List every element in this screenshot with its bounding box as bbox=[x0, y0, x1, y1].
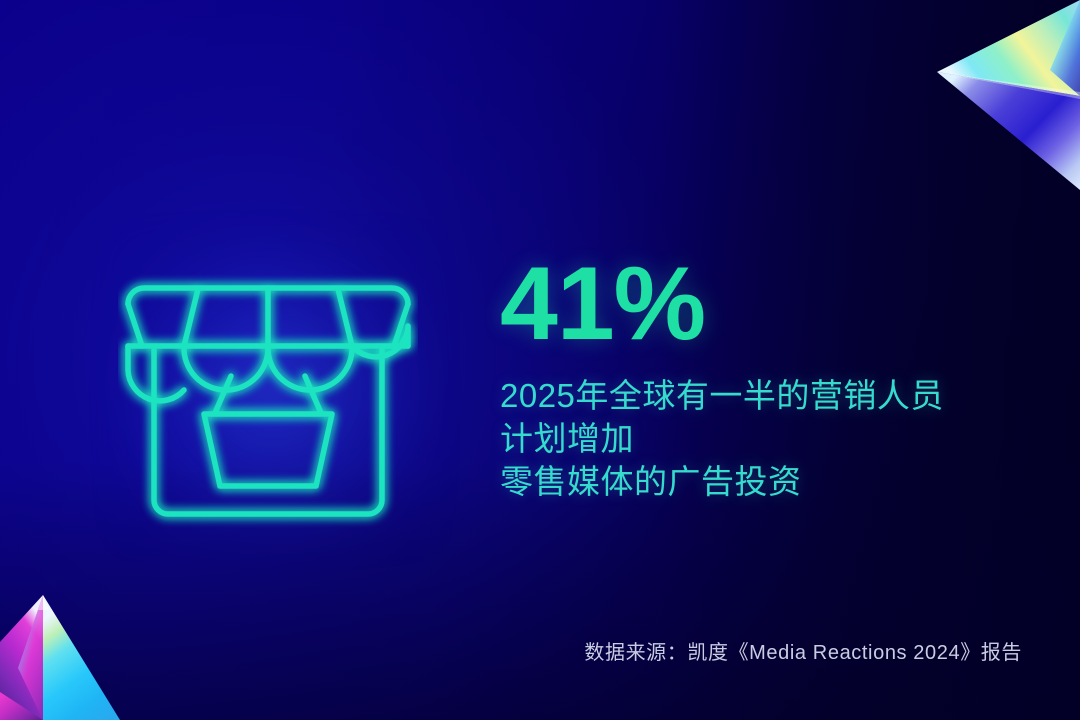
storefront-icon bbox=[118, 238, 418, 528]
basket-handle-right-icon bbox=[305, 376, 321, 413]
headline-line-3: 零售媒体的广告投资 bbox=[500, 460, 1060, 503]
shopping-basket-icon bbox=[204, 414, 332, 486]
awning-seam-1-icon bbox=[184, 289, 198, 346]
awning-left-slant-icon bbox=[128, 304, 142, 346]
headline-line-1: 2025年全球有一半的营销人员 bbox=[500, 374, 1060, 417]
storefront-icon-svg bbox=[118, 238, 418, 528]
shop-body-icon bbox=[154, 350, 382, 514]
awning-seam-3-icon bbox=[338, 289, 352, 346]
headline-line-2: 计划增加 bbox=[500, 417, 1060, 460]
stat-value: 41% bbox=[500, 252, 1060, 356]
headline: 2025年全球有一半的营销人员 计划增加 零售媒体的广告投资 bbox=[500, 374, 1060, 504]
basket-handle-left-icon bbox=[215, 376, 231, 413]
data-source-credit: 数据来源：凯度《Media Reactions 2024》报告 bbox=[584, 636, 1022, 665]
stat-content: 41% 2025年全球有一半的营销人员 计划增加 零售媒体的广告投资 bbox=[500, 252, 1060, 504]
slide-canvas: 41% 2025年全球有一半的营销人员 计划增加 零售媒体的广告投资 数据来源：… bbox=[0, 0, 1080, 720]
